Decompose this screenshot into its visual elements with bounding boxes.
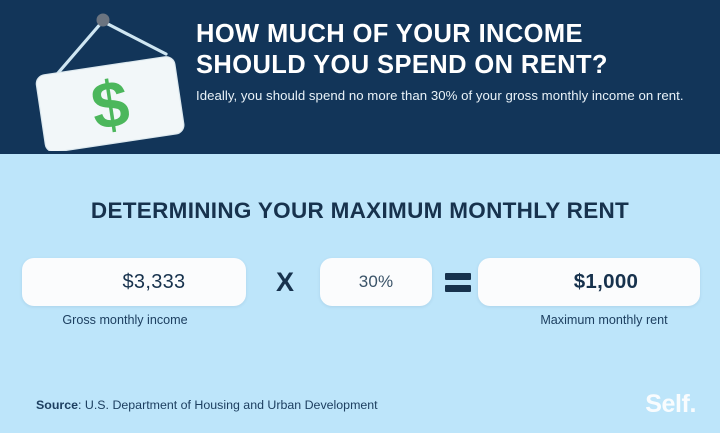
formula-term-income: $3,333 Gross monthly income	[22, 258, 246, 327]
equals-bar-top	[445, 273, 471, 280]
page-title-line-2: SHOULD YOU SPEND ON RENT?	[196, 50, 708, 81]
equals-bar-bottom	[445, 285, 471, 292]
rent-value-box: $1,000	[478, 258, 700, 306]
rent-value: $1,000	[540, 270, 639, 294]
infographic-root: $ HOW MUCH OF YOUR INCOME SHOULD YOU SPE…	[0, 0, 720, 433]
income-value-box: $3,333	[22, 258, 246, 306]
header-text-block: HOW MUCH OF YOUR INCOME SHOULD YOU SPEND…	[196, 19, 708, 106]
formula-term-rent: $1,000 Maximum monthly rent	[478, 258, 700, 327]
source-value: U.S. Department of Housing and Urban Dev…	[85, 398, 378, 412]
page-subtitle: Ideally, you should spend no more than 3…	[196, 87, 701, 106]
header-banner: $ HOW MUCH OF YOUR INCOME SHOULD YOU SPE…	[0, 0, 720, 154]
self-brand-logo: Self.	[645, 390, 696, 419]
multiply-operator: X	[264, 258, 306, 306]
multiply-symbol: X	[264, 258, 306, 306]
source-label: Source	[36, 398, 78, 412]
hanging-sign-dollar-icon: $	[18, 6, 193, 151]
page-title-line-1: HOW MUCH OF YOUR INCOME	[196, 19, 708, 50]
equals-symbol	[440, 258, 476, 306]
section-heading: DETERMINING YOUR MAXIMUM MONTHLY RENT	[0, 198, 720, 224]
source-attribution: Source: U.S. Department of Housing and U…	[36, 398, 378, 412]
equals-operator	[440, 258, 476, 306]
rent-caption: Maximum monthly rent	[478, 313, 700, 327]
formula-term-rate: 30%	[320, 258, 432, 306]
income-caption: Gross monthly income	[22, 313, 246, 327]
rate-value-box: 30%	[320, 258, 432, 306]
rent-formula: $3,333 Gross monthly income X 30%	[0, 258, 720, 348]
source-separator: :	[78, 398, 85, 412]
income-value: $3,333	[83, 271, 186, 294]
body-section: DETERMINING YOUR MAXIMUM MONTHLY RENT $3…	[0, 154, 720, 433]
footer: Source: U.S. Department of Housing and U…	[0, 386, 720, 433]
rate-value: 30%	[359, 272, 394, 292]
